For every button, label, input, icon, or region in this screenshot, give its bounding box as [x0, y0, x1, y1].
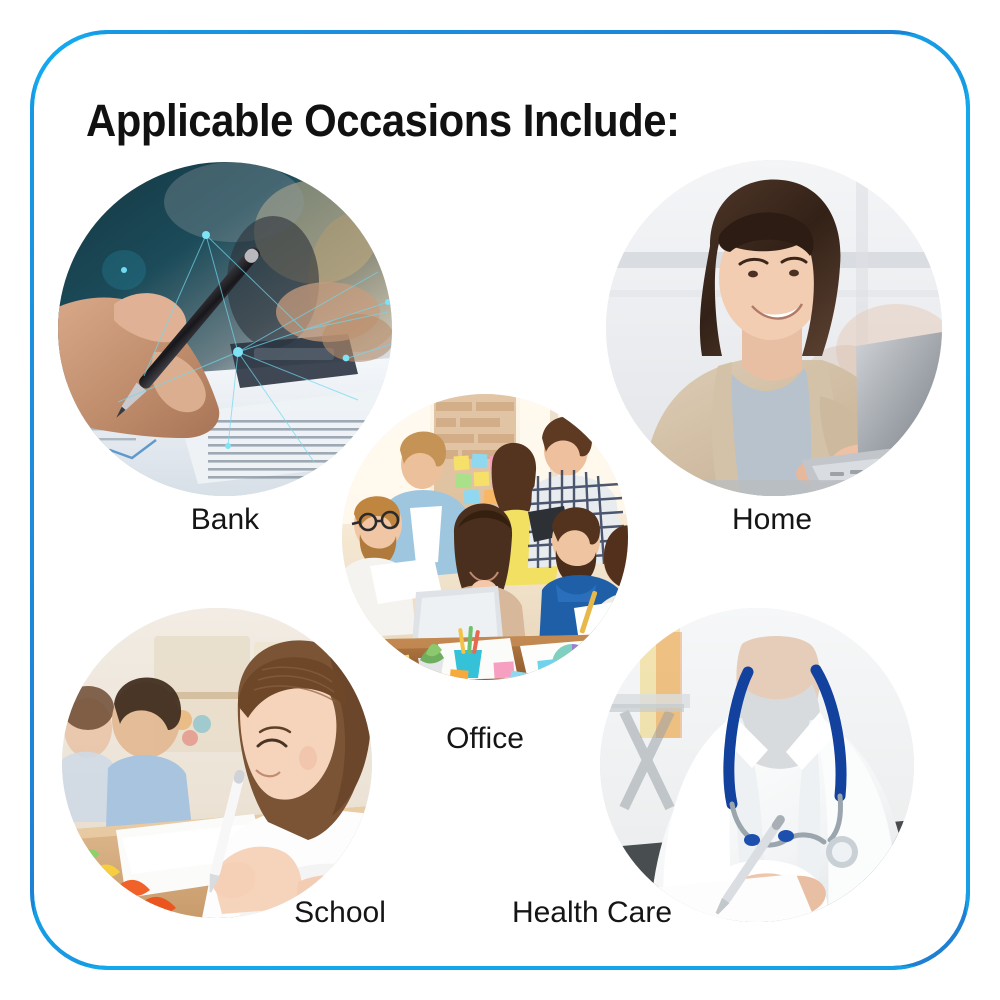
occasion-photo-office [342, 394, 628, 680]
promo-graphic: Applicable Occasions Include: [0, 0, 1000, 1000]
page-title: Applicable Occasions Include: [86, 96, 680, 146]
occasion-photo-school [62, 608, 372, 918]
occasion-label-office: Office [385, 722, 585, 756]
occasion-photo-health-care [600, 608, 914, 922]
occasion-label-home: Home [672, 503, 872, 537]
occasion-photo-bank [58, 162, 392, 496]
occasion-label-bank: Bank [125, 503, 325, 537]
occasion-photo-home [606, 160, 942, 496]
